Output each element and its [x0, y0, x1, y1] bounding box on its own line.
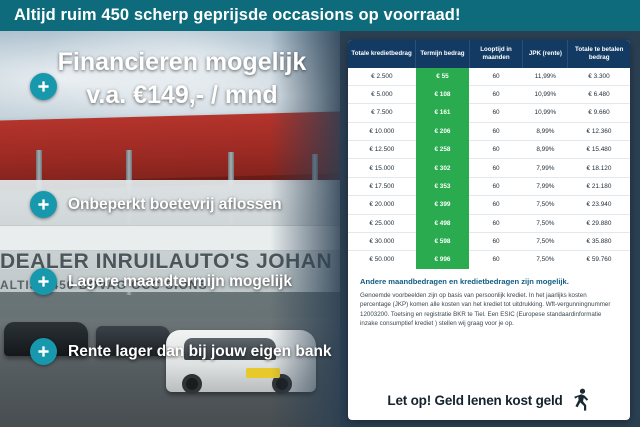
cell-totaal: € 12.360 [568, 122, 630, 140]
cell-jpk: 7,50% [523, 214, 568, 232]
cell-totaal: € 29.880 [568, 214, 630, 232]
cell-looptijd: 60 [469, 141, 523, 159]
cell-termijnbedrag: € 498 [416, 214, 470, 232]
warning-text: Let op! Geld lenen kost geld [387, 393, 562, 408]
cell-totaal: € 3.300 [568, 68, 630, 86]
table-row: € 7.500€ 1616010,99%€ 9.660 [348, 104, 630, 122]
cell-looptijd: 60 [469, 232, 523, 250]
column-header-termijnbedrag: Termijn bedrag [416, 40, 470, 68]
cell-looptijd: 60 [469, 122, 523, 140]
cell-jpk: 7,50% [523, 251, 568, 269]
cell-termijnbedrag: € 996 [416, 251, 470, 269]
cell-looptijd: 60 [469, 159, 523, 177]
cell-looptijd: 60 [469, 196, 523, 214]
cell-kredietbedrag: € 5.000 [348, 85, 416, 103]
cell-kredietbedrag: € 10.000 [348, 122, 416, 140]
table-row: € 5.000€ 1086010,99%€ 6.480 [348, 85, 630, 103]
cell-jpk: 8,99% [523, 141, 568, 159]
table-row: € 30.000€ 598607,50%€ 35.880 [348, 232, 630, 250]
plus-icon [30, 191, 57, 218]
cell-jpk: 10,99% [523, 104, 568, 122]
cell-termijnbedrag: € 55 [416, 68, 470, 86]
cell-jpk: 7,50% [523, 196, 568, 214]
cell-totaal: € 9.660 [568, 104, 630, 122]
cell-kredietbedrag: € 2.500 [348, 68, 416, 86]
cell-kredietbedrag: € 50.000 [348, 251, 416, 269]
header-title: Altijd ruim 450 scherp geprijsde occasio… [0, 6, 461, 25]
cell-jpk: 7,99% [523, 159, 568, 177]
cell-jpk: 7,99% [523, 177, 568, 195]
cell-jpk: 7,50% [523, 232, 568, 250]
column-header-jpk: JPK (rente) [523, 40, 568, 68]
cell-looptijd: 60 [469, 214, 523, 232]
cell-kredietbedrag: € 15.000 [348, 159, 416, 177]
cell-termijnbedrag: € 161 [416, 104, 470, 122]
table-row: € 17.500€ 353607,99%€ 21.180 [348, 177, 630, 195]
table-row: € 10.000€ 206608,99%€ 12.360 [348, 122, 630, 140]
table-row: € 25.000€ 498607,50%€ 29.880 [348, 214, 630, 232]
cell-termijnbedrag: € 108 [416, 85, 470, 103]
cell-totaal: € 18.120 [568, 159, 630, 177]
table-row: € 20.000€ 399607,50%€ 23.940 [348, 196, 630, 214]
cell-termijnbedrag: € 302 [416, 159, 470, 177]
cell-kredietbedrag: € 12.500 [348, 141, 416, 159]
headline-block: Financieren mogelijk v.a. €149,- / mnd [32, 49, 332, 109]
cell-totaal: € 15.480 [568, 141, 630, 159]
table-row: € 12.500€ 258608,99%€ 15.480 [348, 141, 630, 159]
column-header-kredietbedrag: Totale kredietbedrag [348, 40, 416, 68]
cell-totaal: € 23.940 [568, 196, 630, 214]
cell-termijnbedrag: € 206 [416, 122, 470, 140]
cell-termijnbedrag: € 399 [416, 196, 470, 214]
cell-jpk: 11,99% [523, 68, 568, 86]
table-row: € 50.000€ 996607,50%€ 59.760 [348, 251, 630, 269]
disclaimer-block: Andere maandbedragen en kredietbedragen … [348, 269, 630, 329]
cell-looptijd: 60 [469, 68, 523, 86]
cell-kredietbedrag: € 17.500 [348, 177, 416, 195]
bullet-lagere-maandtermijn: Lagere maandtermijn mogelijk [30, 268, 292, 295]
cell-kredietbedrag: € 30.000 [348, 232, 416, 250]
header-bar: Altijd ruim 450 scherp geprijsde occasio… [0, 0, 640, 31]
disclaimer-body: Genoemde voorbeelden zijn op basis van p… [360, 291, 618, 329]
cell-totaal: € 59.760 [568, 251, 630, 269]
walking-person-icon [571, 388, 591, 412]
bullet-label: Lagere maandtermijn mogelijk [68, 273, 292, 291]
headline-line-1: Financieren mogelijk [32, 49, 332, 77]
bullet-boetevrij-aflossen: Onbeperkt boetevrij aflossen [30, 191, 282, 218]
bullet-label: Rente lager dan bij jouw eigen bank [68, 343, 332, 361]
cell-kredietbedrag: € 7.500 [348, 104, 416, 122]
cell-looptijd: 60 [469, 104, 523, 122]
cell-kredietbedrag: € 25.000 [348, 214, 416, 232]
rates-table: Totale kredietbedrag Termijn bedrag Loop… [348, 40, 630, 269]
warning-row: Let op! Geld lenen kost geld [348, 388, 630, 412]
financing-card: Totale kredietbedrag Termijn bedrag Loop… [348, 40, 630, 420]
table-row: € 15.000€ 302607,99%€ 18.120 [348, 159, 630, 177]
rates-table-body: € 2.500€ 556011,99%€ 3.300 € 5.000€ 1086… [348, 68, 630, 269]
cell-termijnbedrag: € 258 [416, 141, 470, 159]
cell-jpk: 10,99% [523, 85, 568, 103]
plus-icon [30, 268, 57, 295]
disclaimer-title: Andere maandbedragen en kredietbedragen … [360, 277, 618, 286]
bullet-label: Onbeperkt boetevrij aflossen [68, 196, 282, 214]
cell-termijnbedrag: € 353 [416, 177, 470, 195]
left-content: Financieren mogelijk v.a. €149,- / mnd O… [0, 31, 345, 427]
cell-totaal: € 35.880 [568, 232, 630, 250]
headline-line-2: v.a. €149,- / mnd [32, 81, 332, 110]
column-header-totaal: Totale te betalen bedrag [568, 40, 630, 68]
table-row: € 2.500€ 556011,99%€ 3.300 [348, 68, 630, 86]
cell-looptijd: 60 [469, 177, 523, 195]
bullet-rente-lager: Rente lager dan bij jouw eigen bank [30, 338, 332, 365]
cell-looptijd: 60 [469, 85, 523, 103]
cell-looptijd: 60 [469, 251, 523, 269]
column-header-looptijd: Looptijd in maanden [469, 40, 523, 68]
cell-kredietbedrag: € 20.000 [348, 196, 416, 214]
cell-totaal: € 6.480 [568, 85, 630, 103]
advertisement-banner: DEALER INRUILAUTO'S JOHAN MEURE ALTIJD 4… [0, 0, 640, 427]
table-header-row: Totale kredietbedrag Termijn bedrag Loop… [348, 40, 630, 68]
cell-totaal: € 21.180 [568, 177, 630, 195]
cell-jpk: 8,99% [523, 122, 568, 140]
plus-icon [30, 338, 57, 365]
cell-termijnbedrag: € 598 [416, 232, 470, 250]
